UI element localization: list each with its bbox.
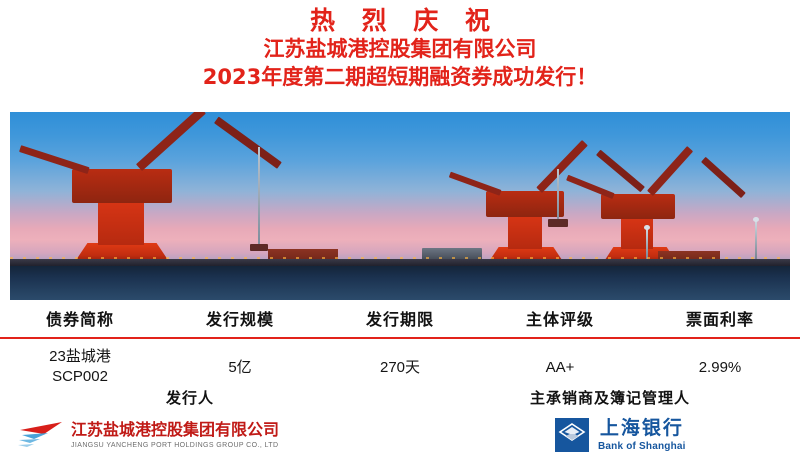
issuer-logo-cn: 江苏盐城港控股集团有限公司 [71,422,279,438]
crane-left-icon [62,113,272,263]
cell-issue-scale: 5亿 [160,339,320,393]
bank-logo-cn: 上海银行 [598,419,686,438]
cell-bond-name-line2: SCP002 [0,367,160,387]
underwriter-section: 主承销商及簿记管理人 上海银行 Bank of Shanghai [410,388,800,408]
bank-logo-en: Bank of Shanghai [598,442,686,452]
port-photo [10,112,790,300]
bank-logo: 上海银行 Bank of Shanghai [555,418,686,452]
footer: 发行人 江苏盐城港控股集团有限公司 JIANGSU YANCHENG PORT … [0,388,800,471]
bank-of-shanghai-arrow-icon [555,418,589,452]
table-header-row: 债券简称 发行规模 发行期限 主体评级 票面利率 [0,302,800,337]
headline-block: 热 烈 庆 祝 江苏盐城港控股集团有限公司 2023年度第二期超短期融资券成功发… [0,0,800,91]
issuer-section: 发行人 [0,388,390,408]
bond-details-table: 债券简称 发行规模 发行期限 主体评级 票面利率 23盐城港 SCP002 5亿… [0,302,800,393]
cell-issuer-rating: AA+ [480,339,640,393]
harbor-water [10,266,790,300]
headline-celebration: 热 烈 庆 祝 [0,6,800,36]
cell-bond-name-line1: 23盐城港 [0,347,160,367]
column-header-bond-name: 债券简称 [0,302,160,337]
issuer-logo-text: 江苏盐城港控股集团有限公司 JIANGSU YANCHENG PORT HOLD… [71,422,279,449]
cell-bond-name: 23盐城港 SCP002 [0,339,160,393]
cell-tenor: 270天 [320,339,480,393]
issuer-role-label: 发行人 [0,388,390,408]
column-header-tenor: 发行期限 [320,302,480,337]
column-header-issue-scale: 发行规模 [160,302,320,337]
table-row: 23盐城港 SCP002 5亿 270天 AA+ 2.99% [0,339,800,393]
underwriter-role-label: 主承销商及簿记管理人 [410,388,800,408]
issuer-logo-en: JIANGSU YANCHENG PORT HOLDINGS GROUP CO.… [71,442,279,449]
cell-coupon-rate: 2.99% [640,339,800,393]
issuer-logo: 江苏盐城港控股集团有限公司 JIANGSU YANCHENG PORT HOLD… [18,421,279,449]
headline-company-name: 江苏盐城港控股集团有限公司 [0,36,800,63]
column-header-issuer-rating: 主体评级 [480,302,640,337]
headline-issuance-announcement: 2023年度第二期超短期融资券成功发行！ [0,63,800,91]
crane-right-b-icon [595,159,745,263]
column-header-coupon-rate: 票面利率 [640,302,800,337]
red-blue-swoosh-icon [18,421,64,449]
bank-logo-text: 上海银行 Bank of Shanghai [598,419,686,452]
